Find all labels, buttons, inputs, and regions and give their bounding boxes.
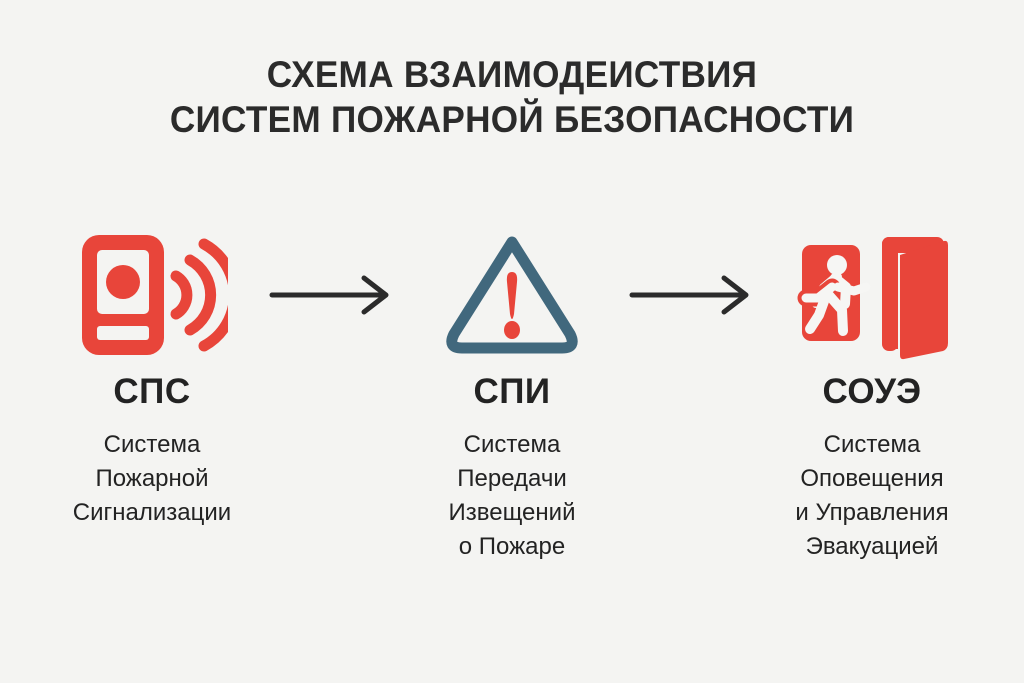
warning-triangle-icon [444, 230, 580, 360]
arrow-right-icon [629, 273, 755, 317]
desc-spi-line-3: Извещений [412, 496, 612, 530]
label-spacer-1 [252, 372, 412, 564]
abbr-spi: СПИ [412, 372, 612, 412]
abbr-soue: СОУЭ [772, 372, 972, 412]
flow-labels-row: СПС Система Пожарной Сигнализации СПИ Си… [0, 372, 1024, 564]
desc-sps-line-1: Система [52, 428, 252, 462]
desc-soue-line-2: Оповещения [772, 462, 972, 496]
flow-diagram-row [0, 215, 1024, 375]
infographic-canvas: СХЕМА ВЗАИМОДЕИСТВИЯ СИСТЕМ ПОЖАРНОЙ БЕЗ… [0, 0, 1024, 683]
arrow-right-icon [269, 273, 395, 317]
desc-sps-line-2: Пожарной [52, 462, 252, 496]
label-col-soue: СОУЭ Система Оповещения и Управления Эва… [772, 372, 972, 564]
desc-sps-line-3: Сигнализации [52, 496, 252, 530]
label-col-sps: СПС Система Пожарной Сигнализации [52, 372, 252, 564]
emergency-exit-icon [788, 225, 956, 365]
desc-spi-line-1: Система [412, 428, 612, 462]
arrow-sps-to-spi [252, 215, 412, 375]
desc-soue-line-3: и Управления [772, 496, 972, 530]
desc-sps: Система Пожарной Сигнализации [52, 428, 252, 530]
fire-alarm-detector-icon [76, 227, 228, 363]
label-spacer-2 [612, 372, 772, 564]
node-spi-icon-cell [412, 215, 612, 375]
desc-spi-line-2: Передачи [412, 462, 612, 496]
page-title: СХЕМА ВЗАИМОДЕИСТВИЯ СИСТЕМ ПОЖАРНОЙ БЕЗ… [0, 52, 1024, 142]
desc-soue-line-1: Система [772, 428, 972, 462]
abbr-sps: СПС [52, 372, 252, 412]
label-col-spi: СПИ Система Передачи Извещений о Пожаре [412, 372, 612, 564]
arrow-spi-to-soue [612, 215, 772, 375]
node-sps-icon-cell [52, 215, 252, 375]
title-line-2: СИСТЕМ ПОЖАРНОЙ БЕЗОПАСНОСТИ [26, 97, 999, 142]
desc-spi-line-4: о Пожаре [412, 530, 612, 564]
desc-soue-line-4: Эвакуацией [772, 530, 972, 564]
node-soue-icon-cell [772, 215, 972, 375]
desc-soue: Система Оповещения и Управления Эвакуаци… [772, 428, 972, 564]
title-line-1: СХЕМА ВЗАИМОДЕИСТВИЯ [26, 52, 999, 97]
desc-spi: Система Передачи Извещений о Пожаре [412, 428, 612, 564]
